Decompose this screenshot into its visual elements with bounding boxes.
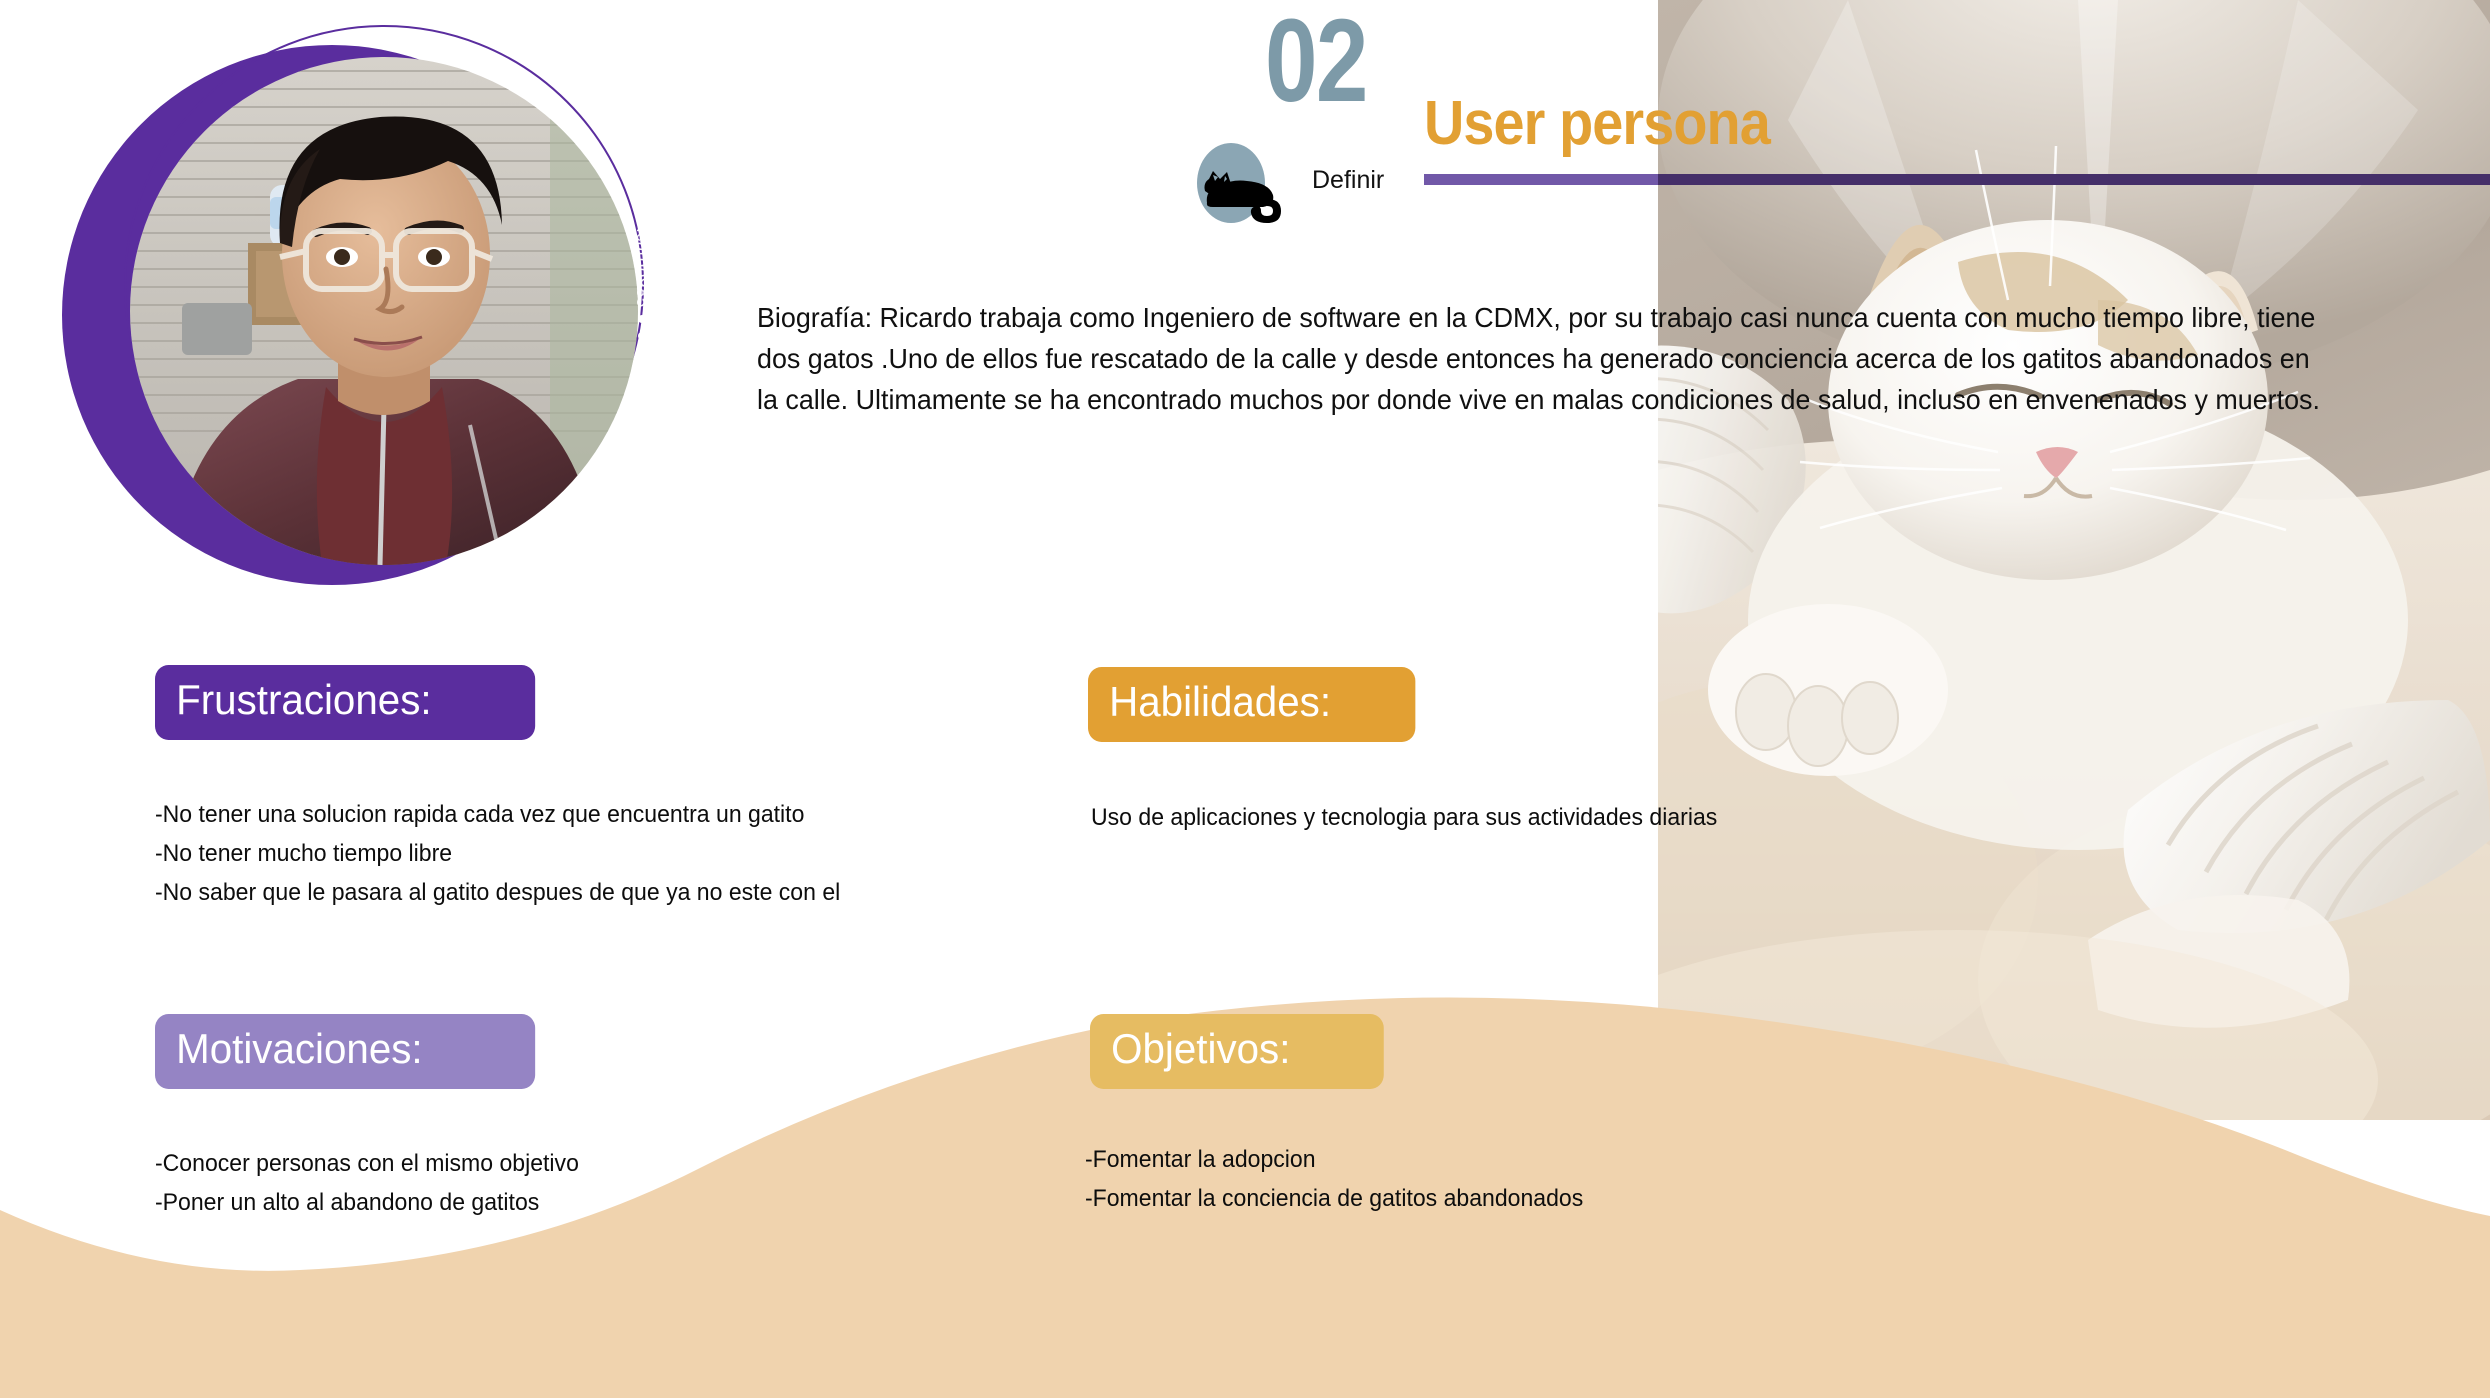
panel-objetivos-items: -Fomentar la adopcion -Fomentar la conci…: [1085, 1141, 1583, 1219]
avatar-dot: [638, 315, 646, 323]
biography-text: Biografía: Ricardo trabaja como Ingenier…: [757, 297, 2331, 420]
list-item: -No tener una solucion rapida cada vez q…: [155, 796, 840, 835]
step-number: 02: [1265, 2, 1367, 120]
avatar-dot: [638, 349, 646, 357]
persona-avatar: Det: [62, 25, 662, 625]
list-item: -No tener mucho tiempo libre: [155, 835, 840, 874]
list-item: Uso de aplicaciones y tecnologia para su…: [1091, 799, 1717, 838]
panel-habilidades-label: Habilidades:: [1088, 667, 1415, 742]
panel-frustraciones-items: -No tener una solucion rapida cada vez q…: [155, 796, 840, 913]
avatar-dot: [638, 332, 646, 340]
panel-habilidades: Habilidades: Uso de aplicaciones y tecno…: [1088, 667, 1743, 838]
list-item: -Fomentar la conciencia de gatitos aband…: [1085, 1180, 1583, 1219]
avatar-watermark: vs.co/ricardo985: [632, 175, 652, 308]
avatar-photo: Det: [130, 57, 638, 565]
list-item: -No saber que le pasara al gatito despue…: [155, 874, 840, 913]
list-item: -Fomentar la adopcion: [1085, 1141, 1583, 1180]
panel-habilidades-items: Uso de aplicaciones y tecnologia para su…: [1091, 799, 1717, 838]
panel-motivaciones: Motivaciones: -Conocer personas con el m…: [155, 1014, 597, 1223]
panel-objetivos-label: Objetivos:: [1090, 1014, 1384, 1089]
sleeping-cat-photo: [1658, 0, 2490, 1120]
panel-frustraciones: Frustraciones: -No tener una solucion ra…: [155, 665, 869, 913]
list-item: -Poner un alto al abandono de gatitos: [155, 1184, 579, 1223]
step-label: Definir: [1312, 166, 1384, 195]
page-title: User persona: [1424, 88, 1770, 159]
title-divider-shaded-overlay: [1658, 174, 2490, 185]
cat-icon: [1189, 141, 1287, 225]
user-persona-slide: Det: [0, 0, 2490, 1398]
avatar-story-dots: [638, 315, 646, 357]
list-item: -Conocer personas con el mismo objetivo: [155, 1145, 579, 1184]
panel-motivaciones-label: Motivaciones:: [155, 1014, 535, 1089]
panel-objetivos: Objetivos: -Fomentar la adopcion -Foment…: [1090, 1014, 1604, 1219]
panel-frustraciones-label: Frustraciones:: [155, 665, 535, 740]
panel-motivaciones-items: -Conocer personas con el mismo objetivo …: [155, 1145, 579, 1223]
